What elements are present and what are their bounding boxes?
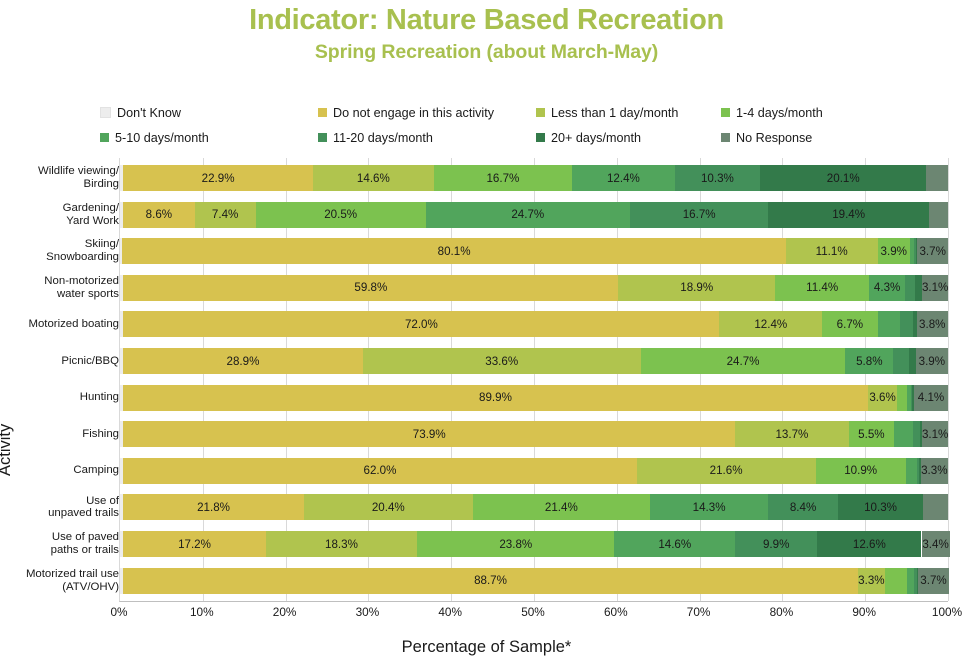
bar-segment[interactable]: 62.0%: [123, 458, 636, 484]
bar-segment-value: 3.6%: [869, 391, 895, 404]
category-label-line: Use of paved: [14, 531, 119, 544]
bar-segment-value: 16.7%: [683, 208, 716, 221]
bar-segment[interactable]: 20.5%: [256, 202, 426, 228]
bar-segment[interactable]: 9.9%: [735, 531, 817, 557]
bar-segment[interactable]: 21.4%: [473, 494, 650, 520]
bar-segment-value: 14.6%: [658, 538, 691, 551]
y-axis-category-label: Skiing/Snowboarding: [14, 238, 119, 264]
title-block: Indicator: Nature Based Recreation Sprin…: [0, 4, 973, 64]
category-label-line: Yard Work: [14, 215, 119, 228]
bar-segment[interactable]: 12.4%: [719, 311, 822, 337]
bar-segment[interactable]: [915, 275, 922, 301]
bar-segment-value: 14.3%: [693, 501, 726, 514]
bar-segment-value: 8.6%: [146, 208, 172, 221]
bar-segment[interactable]: 4.3%: [869, 275, 905, 301]
bar-segment[interactable]: 12.4%: [572, 165, 675, 191]
legend-swatch-icon: [721, 108, 730, 117]
bar-segment-value: 11.4%: [806, 281, 838, 294]
bar-segment[interactable]: [913, 421, 920, 447]
bar-segment[interactable]: 73.9%: [123, 421, 735, 447]
bar-row[interactable]: 17.2%18.3%23.8%14.6%9.9%12.6%3.4%: [120, 531, 948, 557]
legend-item-label: No Response: [736, 131, 812, 145]
bar-segment-value: 14.6%: [357, 172, 390, 185]
x-axis-tick-label: 70%: [687, 605, 711, 619]
y-axis-category-label: Wildlife viewing/Birding: [14, 165, 119, 191]
x-axis-tick-label: 20%: [273, 605, 297, 619]
legend-item-label: Don't Know: [117, 106, 181, 120]
bar-segment[interactable]: 4.1%: [914, 385, 948, 411]
bar-segment[interactable]: 80.1%: [122, 238, 785, 264]
bar-segment[interactable]: 88.7%: [123, 568, 857, 594]
legend-item[interactable]: 5-10 days/month: [100, 131, 318, 145]
bar-segment[interactable]: 28.9%: [123, 348, 362, 374]
bar-segment[interactable]: 3.1%: [922, 275, 948, 301]
y-axis-category-label: Use ofunpaved trails: [14, 495, 119, 521]
category-label-line: (ATV/OHV): [14, 581, 119, 594]
bar-segment[interactable]: [900, 311, 913, 337]
bar-segment-value: 10.3%: [864, 501, 897, 514]
bar-segment[interactable]: 14.6%: [313, 165, 434, 191]
chart-legend: Don't KnowDo not engage in this activity…: [100, 100, 890, 150]
bar-segment[interactable]: 24.7%: [641, 348, 846, 374]
bar-segment-value: 21.8%: [197, 501, 230, 514]
bar-segment-value: 3.3%: [858, 574, 884, 587]
bar-segment[interactable]: [923, 494, 948, 520]
bar-segment[interactable]: 19.4%: [768, 202, 929, 228]
y-axis-category-label: Hunting: [14, 391, 119, 404]
bar-segment[interactable]: 21.6%: [637, 458, 816, 484]
bar-segment[interactable]: [893, 348, 909, 374]
y-axis-category-label: Gardening/Yard Work: [14, 202, 119, 228]
bar-row[interactable]: 89.9%3.6%4.1%: [120, 385, 948, 411]
bar-segment-value: 3.7%: [920, 574, 946, 587]
x-axis-tick-label: 50%: [521, 605, 545, 619]
bar-segment[interactable]: 16.7%: [434, 165, 572, 191]
bar-segment-value: 80.1%: [438, 245, 471, 258]
bar-segment-value: 9.9%: [763, 538, 789, 551]
bar-segment[interactable]: 22.9%: [123, 165, 313, 191]
category-label-line: Use of: [14, 495, 119, 508]
bar-segment[interactable]: 3.1%: [922, 421, 948, 447]
bar-segment[interactable]: 3.9%: [878, 238, 910, 264]
bar-segment[interactable]: 6.7%: [822, 311, 877, 337]
x-axis-tick-label: 40%: [438, 605, 462, 619]
legend-swatch-icon: [100, 133, 109, 142]
bar-row[interactable]: 8.6%7.4%20.5%24.7%16.7%19.4%: [120, 202, 948, 228]
plot-area: 22.9%14.6%16.7%12.4%10.3%20.1%8.6%7.4%20…: [119, 158, 948, 602]
legend-item[interactable]: 1-4 days/month: [721, 106, 891, 120]
category-label-line: Wildlife viewing/: [14, 165, 119, 178]
bar-segment-value: 62.0%: [364, 464, 397, 477]
bar-segment-value: 73.9%: [413, 428, 446, 441]
bar-segment[interactable]: 8.6%: [123, 202, 194, 228]
bar-segment[interactable]: 18.9%: [618, 275, 774, 301]
category-label-line: Motorized trail use: [14, 568, 119, 581]
legend-swatch-icon: [536, 108, 545, 117]
y-axis-category-label: Motorized boating: [14, 318, 119, 331]
chart-plot-wrapper: Activity Wildlife viewing/BirdingGardeni…: [0, 158, 973, 610]
bar-segment-value: 12.6%: [853, 538, 886, 551]
bar-segment-value: 21.4%: [545, 501, 578, 514]
y-axis-category-label: Camping: [14, 464, 119, 477]
bar-segment-value: 72.0%: [405, 318, 438, 331]
legend-swatch-icon: [318, 133, 327, 142]
x-axis-tick-label: 90%: [852, 605, 876, 619]
bar-segment-value: 18.3%: [325, 538, 358, 551]
bar-segment[interactable]: 20.1%: [760, 165, 926, 191]
bar-segment-value: 16.7%: [486, 172, 519, 185]
y-axis-title: Activity: [0, 424, 15, 476]
bar-segment-value: 22.9%: [202, 172, 235, 185]
bar-segment-value: 3.8%: [919, 318, 945, 331]
bar-segment-value: 8.4%: [790, 501, 816, 514]
bar-segment-value: 3.9%: [881, 245, 907, 258]
bar-segment[interactable]: 14.3%: [650, 494, 768, 520]
legend-swatch-icon: [318, 108, 327, 117]
bar-segment-value: 3.4%: [922, 538, 948, 551]
bar-row[interactable]: 88.7%3.3%3.7%: [120, 568, 948, 594]
bar-segment[interactable]: 3.3%: [858, 568, 885, 594]
bar-segment-value: 18.9%: [680, 281, 713, 294]
legend-item[interactable]: No Response: [721, 131, 891, 145]
bar-segment[interactable]: [894, 421, 913, 447]
bar-segment[interactable]: 3.7%: [917, 238, 948, 264]
bar-segment[interactable]: 10.3%: [675, 165, 760, 191]
legend-item-label: 11-20 days/month: [333, 131, 433, 145]
category-label-line: paths or trails: [14, 544, 119, 557]
bar-segment[interactable]: [885, 568, 907, 594]
bar-segment[interactable]: 10.9%: [816, 458, 906, 484]
bar-segment[interactable]: 13.7%: [735, 421, 848, 447]
bar-segment[interactable]: 5.5%: [849, 421, 895, 447]
legend-swatch-icon: [536, 133, 545, 142]
bar-segment-value: 12.4%: [754, 318, 787, 331]
x-axis-tick-label: 60%: [604, 605, 628, 619]
bar-segment-value: 23.8%: [499, 538, 532, 551]
bar-segment[interactable]: 3.8%: [917, 311, 948, 337]
legend-item[interactable]: 11-20 days/month: [318, 131, 536, 145]
bar-segment-value: 5.5%: [858, 428, 884, 441]
bar-segment-value: 3.3%: [921, 464, 947, 477]
bar-segment[interactable]: 12.6%: [817, 531, 921, 557]
category-label-line: Birding: [14, 178, 119, 191]
bar-segment[interactable]: [897, 385, 907, 411]
bar-segment[interactable]: 17.2%: [123, 531, 265, 557]
x-axis-tick-label: 80%: [770, 605, 794, 619]
bar-segment[interactable]: 16.7%: [630, 202, 768, 228]
bar-segment-value: 24.7%: [511, 208, 544, 221]
bar-segment[interactable]: 20.4%: [304, 494, 473, 520]
bar-segment[interactable]: 59.8%: [123, 275, 618, 301]
bar-segment[interactable]: [907, 568, 914, 594]
bar-segment[interactable]: 7.4%: [195, 202, 256, 228]
bar-row[interactable]: 28.9%33.6%24.7%5.8%3.9%: [120, 348, 948, 374]
bar-row[interactable]: 72.0%12.4%6.7%3.8%: [120, 311, 948, 337]
bar-segment-value: 4.3%: [874, 281, 900, 294]
bar-segment[interactable]: 3.4%: [922, 531, 950, 557]
category-label-line: unpaved trails: [14, 507, 119, 520]
bar-segment-value: 3.1%: [922, 428, 948, 441]
category-label-line: Hunting: [14, 391, 119, 404]
bar-segment[interactable]: 23.8%: [417, 531, 614, 557]
bar-segment-value: 12.4%: [607, 172, 640, 185]
bar-segment-value: 5.8%: [856, 355, 882, 368]
legend-item-label: 1-4 days/month: [736, 106, 823, 120]
y-axis-category-label: Fishing: [14, 428, 119, 441]
bar-segment[interactable]: 72.0%: [123, 311, 719, 337]
legend-item[interactable]: 20+ days/month: [536, 131, 721, 145]
bar-segment-value: 21.6%: [710, 464, 743, 477]
x-axis-tick-label: 10%: [190, 605, 214, 619]
bar-segment[interactable]: 89.9%: [123, 385, 867, 411]
x-axis-tick-label: 0%: [110, 605, 127, 619]
bar-segment[interactable]: 10.3%: [838, 494, 923, 520]
bar-segment-value: 28.9%: [227, 355, 260, 368]
bar-row[interactable]: 59.8%18.9%11.4%4.3%3.1%: [120, 275, 948, 301]
bar-segment-value: 11.1%: [816, 245, 848, 258]
x-axis-tick-label: 30%: [356, 605, 380, 619]
category-label-line: Motorized boating: [14, 318, 119, 331]
bar-row[interactable]: 22.9%14.6%16.7%12.4%10.3%20.1%: [120, 165, 948, 191]
bar-segment[interactable]: [905, 275, 915, 301]
bar-segment-value: 33.6%: [485, 355, 518, 368]
bar-segment[interactable]: [929, 202, 948, 228]
bar-segment-value: 3.9%: [919, 355, 945, 368]
bar-segment[interactable]: 8.4%: [768, 494, 838, 520]
bar-segment[interactable]: [909, 348, 916, 374]
bar-segment-value: 20.5%: [324, 208, 357, 221]
category-label-line: Snowboarding: [14, 251, 119, 264]
category-label-line: Gardening/: [14, 202, 119, 215]
bar-segment-value: 3.1%: [922, 281, 948, 294]
page-title: Indicator: Nature Based Recreation: [0, 4, 973, 37]
page-subtitle: Spring Recreation (about March-May): [0, 41, 973, 64]
bar-segment[interactable]: 3.6%: [868, 385, 898, 411]
bar-segment-value: 24.7%: [727, 355, 760, 368]
legend-item-label: 5-10 days/month: [115, 131, 209, 145]
bar-segment-value: 13.7%: [775, 428, 808, 441]
x-axis-title: Percentage of Sample*: [0, 638, 973, 657]
bar-segment-value: 4.1%: [918, 391, 944, 404]
bar-segment[interactable]: 3.9%: [916, 348, 948, 374]
bar-segment-value: 59.8%: [354, 281, 387, 294]
bar-row[interactable]: 73.9%13.7%5.5%3.1%: [120, 421, 948, 447]
bar-segment-value: 20.1%: [827, 172, 860, 185]
bar-segment[interactable]: 14.6%: [614, 531, 735, 557]
category-label-line: Camping: [14, 464, 119, 477]
bar-segment[interactable]: 24.7%: [426, 202, 631, 228]
legend-item-label: Do not engage in this activity: [333, 106, 494, 120]
legend-item-label: Less than 1 day/month: [551, 106, 678, 120]
y-axis-category-label: Motorized trail use(ATV/OHV): [14, 568, 119, 594]
bar-segment-value: 20.4%: [372, 501, 405, 514]
legend-swatch-icon: [721, 133, 730, 142]
bar-row[interactable]: 80.1%11.1%3.9%3.7%: [120, 238, 948, 264]
legend-item[interactable]: Less than 1 day/month: [536, 106, 721, 120]
bar-segment[interactable]: 33.6%: [363, 348, 641, 374]
x-axis-ticks: 0%10%20%30%40%50%60%70%80%90%100%: [119, 605, 947, 623]
category-label-line: Non-motorized: [14, 275, 119, 288]
bar-segment[interactable]: [878, 311, 900, 337]
bar-row[interactable]: 21.8%20.4%21.4%14.3%8.4%10.3%: [120, 494, 948, 520]
bar-row[interactable]: 62.0%21.6%10.9%3.3%: [120, 458, 948, 484]
bar-segment-value: 6.7%: [837, 318, 863, 331]
bar-segment[interactable]: 18.3%: [266, 531, 418, 557]
legend-item[interactable]: Don't Know: [100, 106, 318, 120]
bar-segment-value: 10.9%: [844, 464, 877, 477]
y-axis-category-labels: Wildlife viewing/BirdingGardening/Yard W…: [14, 158, 119, 601]
bar-segment[interactable]: 11.4%: [775, 275, 869, 301]
y-axis-category-label: Use of pavedpaths or trails: [14, 531, 119, 557]
bar-segment[interactable]: 11.1%: [786, 238, 878, 264]
y-axis-category-label: Non-motorizedwater sports: [14, 275, 119, 301]
category-label-line: Fishing: [14, 428, 119, 441]
bar-segment[interactable]: 21.8%: [123, 494, 304, 520]
bar-segment-value: 7.4%: [212, 208, 238, 221]
legend-item-label: 20+ days/month: [551, 131, 641, 145]
category-label-line: Picnic/BBQ: [14, 355, 119, 368]
bar-segment-value: 19.4%: [832, 208, 865, 221]
legend-swatch-icon: [100, 107, 111, 118]
category-label-line: Skiing/: [14, 238, 119, 251]
category-label-line: water sports: [14, 288, 119, 301]
bar-segment[interactable]: 5.8%: [845, 348, 893, 374]
bar-segment-value: 17.2%: [178, 538, 211, 551]
x-axis-tick-label: 100%: [932, 605, 962, 619]
bar-segment-value: 3.7%: [919, 245, 945, 258]
bar-segment-value: 89.9%: [479, 391, 512, 404]
bar-segment[interactable]: 3.3%: [921, 458, 948, 484]
bar-segment[interactable]: [926, 165, 948, 191]
legend-item[interactable]: Do not engage in this activity: [318, 106, 536, 120]
bar-segment-value: 88.7%: [474, 574, 507, 587]
bar-segment[interactable]: [906, 458, 917, 484]
bar-segment-value: 10.3%: [701, 172, 734, 185]
bar-segment[interactable]: 3.7%: [918, 568, 949, 594]
y-axis-category-label: Picnic/BBQ: [14, 355, 119, 368]
